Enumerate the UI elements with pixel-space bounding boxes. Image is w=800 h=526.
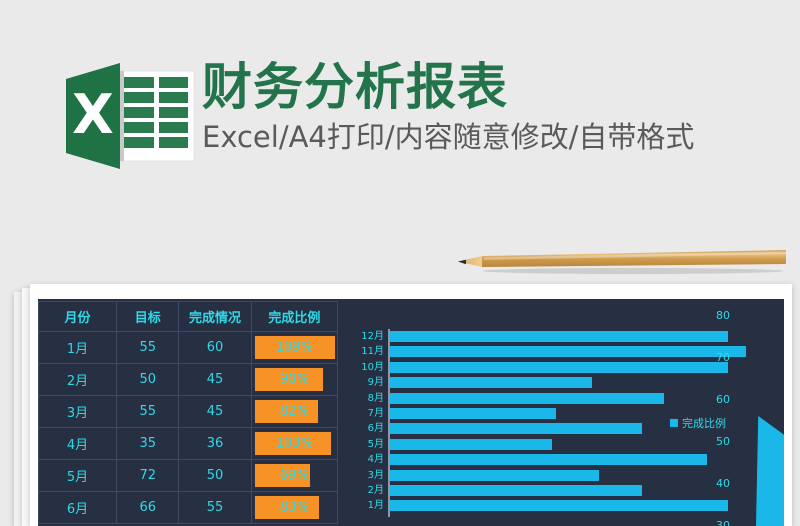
chart-category-label: 8月	[340, 391, 384, 406]
report-table: 月份 目标 完成情况 完成比例 1月5560109%2月504590%3月554…	[38, 301, 338, 524]
chart-bar	[390, 470, 599, 481]
ratio-label: 83%	[252, 492, 337, 523]
cell-month: 5月	[39, 460, 117, 492]
cell-month: 1月	[39, 332, 117, 364]
chart-category-label: 1月	[340, 498, 384, 513]
cell-ratio: 69%	[251, 460, 337, 492]
value-axis-tick: 60	[716, 393, 746, 406]
chart-bar-row: 12月	[340, 329, 740, 344]
chart-bar	[390, 331, 728, 342]
cell-actual: 45	[179, 364, 251, 396]
chart-bar	[390, 500, 728, 511]
excel-logo-icon: X	[58, 57, 198, 175]
chart-bar-row: 1月	[340, 498, 740, 513]
screenshot-root: X 财务分析报表 Excel/A4打印/内容随意修改/自带格式	[0, 0, 800, 526]
ratio-label: 82%	[252, 396, 337, 427]
cell-month: 2月	[39, 364, 117, 396]
cell-actual: 60	[179, 332, 251, 364]
chart-bar	[390, 377, 592, 388]
table-header-row: 月份 目标 完成情况 完成比例	[39, 302, 338, 332]
chart-category-label: 11月	[340, 344, 384, 359]
table-row: 5月725069%	[39, 460, 338, 492]
cell-month: 3月	[39, 396, 117, 428]
cell-target: 35	[117, 428, 179, 460]
column-header-month: 月份	[39, 302, 117, 332]
chart-bar	[390, 485, 642, 496]
column-header-target: 目标	[117, 302, 179, 332]
chart-bar-row: 5月	[340, 437, 740, 452]
cell-target: 66	[117, 492, 179, 524]
cell-target: 72	[117, 460, 179, 492]
chart-bar-row: 8月	[340, 391, 740, 406]
chart-category-label: 12月	[340, 329, 384, 344]
chart-bar	[390, 408, 556, 419]
chart-category-label: 2月	[340, 483, 384, 498]
ratio-label: 103%	[252, 428, 337, 459]
cell-ratio: 83%	[251, 492, 337, 524]
chart-bar-row: 9月	[340, 375, 740, 390]
chart-bar-row: 3月	[340, 468, 740, 483]
chart-bar	[390, 454, 707, 465]
cell-actual: 55	[179, 492, 251, 524]
cell-ratio: 109%	[251, 332, 337, 364]
cell-target: 55	[117, 332, 179, 364]
chart-bar-row: 4月	[340, 452, 740, 467]
header-banner: X 财务分析报表 Excel/A4打印/内容随意修改/自带格式	[0, 0, 800, 236]
chart-bar	[390, 393, 664, 404]
chart-category-label: 9月	[340, 375, 384, 390]
svg-text:X: X	[72, 83, 114, 146]
chart-bar	[390, 362, 728, 373]
column-header-ratio: 完成比例	[251, 302, 337, 332]
chart-category-label: 7月	[340, 406, 384, 421]
chart-bar	[390, 423, 642, 434]
cell-month: 4月	[39, 428, 117, 460]
pencil-image	[448, 248, 788, 278]
ratio-label: 109%	[252, 332, 337, 363]
chart-category-label: 6月	[340, 421, 384, 436]
chart-bar	[390, 439, 552, 450]
ratio-label: 90%	[252, 364, 337, 395]
chart-category-label: 5月	[340, 437, 384, 452]
title-block: 财务分析报表 Excel/A4打印/内容随意修改/自带格式	[202, 62, 792, 154]
column-header-actual: 完成情况	[179, 302, 251, 332]
table-body: 1月5560109%2月504590%3月554582%4月3536103%5月…	[39, 332, 338, 524]
ratio-label: 69%	[252, 460, 337, 491]
value-axis-tick: 30	[716, 519, 746, 526]
value-axis-tick: 40	[716, 477, 746, 490]
cell-actual: 36	[179, 428, 251, 460]
table-row: 6月665583%	[39, 492, 338, 524]
table-row: 4月3536103%	[39, 428, 338, 460]
table-row: 1月5560109%	[39, 332, 338, 364]
cell-month: 6月	[39, 492, 117, 524]
chart-category-label: 10月	[340, 360, 384, 375]
value-axis-tick: 70	[716, 351, 746, 364]
value-axis-tick: 80	[716, 309, 746, 322]
cell-ratio: 90%	[251, 364, 337, 396]
dashboard-panel: 月份 目标 完成情况 完成比例 1月5560109%2月504590%3月554…	[38, 299, 784, 526]
chart-bar-row: 10月	[340, 360, 740, 375]
page-subtitle: Excel/A4打印/内容随意修改/自带格式	[202, 122, 792, 154]
cell-ratio: 103%	[251, 428, 337, 460]
table-row: 2月504590%	[39, 364, 338, 396]
cell-actual: 45	[179, 396, 251, 428]
cell-actual: 50	[179, 460, 251, 492]
cell-ratio: 82%	[251, 396, 337, 428]
chart-category-label: 3月	[340, 468, 384, 483]
chart-bar	[390, 346, 746, 357]
value-axis-tick: 50	[716, 435, 746, 448]
table-row: 3月554582%	[39, 396, 338, 428]
cell-target: 50	[117, 364, 179, 396]
chart-bar-row: 11月	[340, 344, 740, 359]
chart-value-axis: 807060504030	[716, 309, 746, 521]
legend-swatch-icon	[670, 419, 678, 427]
chart-bar-row: 2月	[340, 483, 740, 498]
page-title: 财务分析报表	[202, 62, 792, 112]
chart-category-label: 4月	[340, 452, 384, 467]
cell-target: 55	[117, 396, 179, 428]
